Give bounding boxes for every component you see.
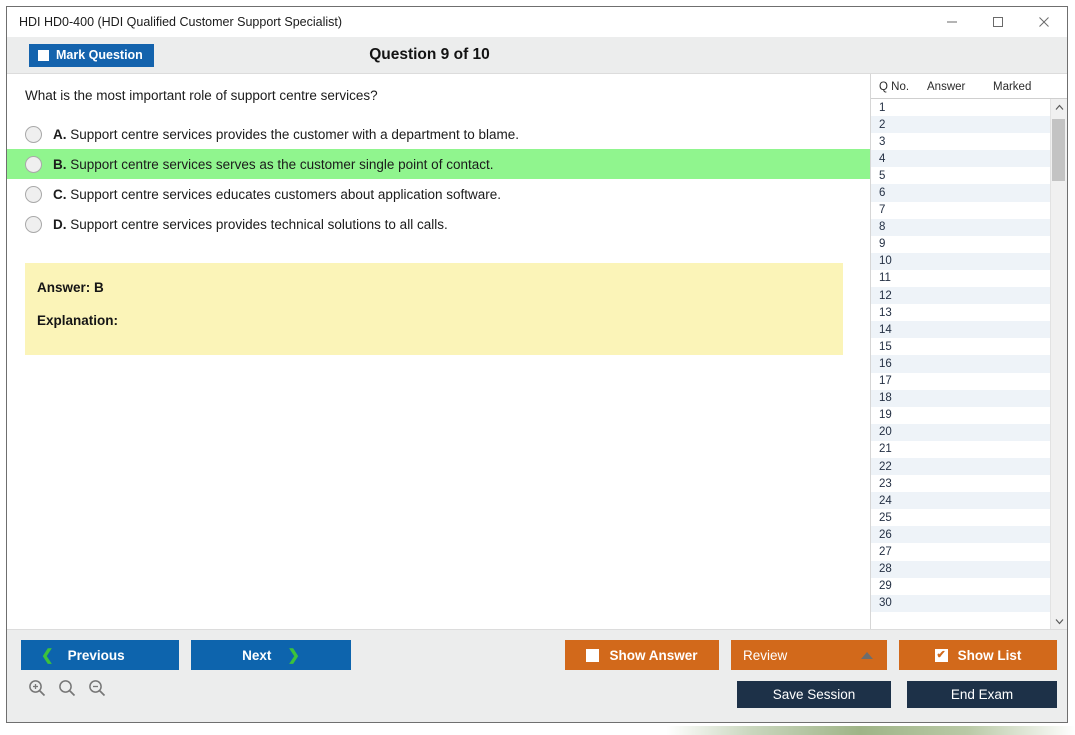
- row-question-number: 4: [871, 153, 926, 165]
- question-list-body: 1234567891011121314151617181920212223242…: [871, 99, 1067, 629]
- question-list-row[interactable]: 23: [871, 475, 1050, 492]
- question-list-row[interactable]: 14: [871, 321, 1050, 338]
- content-area: What is the most important role of suppo…: [7, 74, 1067, 629]
- option-body: Support centre services educates custome…: [70, 187, 501, 202]
- show-answer-label: Show Answer: [609, 648, 697, 663]
- show-list-button[interactable]: ✔ Show List: [899, 640, 1057, 670]
- scroll-up-arrow-icon[interactable]: [1051, 99, 1067, 115]
- row-question-number: 8: [871, 221, 926, 233]
- row-question-number: 3: [871, 136, 926, 148]
- row-question-number: 15: [871, 341, 926, 353]
- answer-label: Answer: B: [37, 280, 843, 295]
- next-label: Next: [242, 648, 271, 663]
- end-exam-button[interactable]: End Exam: [907, 681, 1057, 708]
- option-radio-icon[interactable]: [25, 216, 42, 233]
- row-question-number: 23: [871, 478, 926, 490]
- row-question-number: 11: [871, 272, 926, 284]
- question-list-row[interactable]: 19: [871, 407, 1050, 424]
- option-letter: B.: [53, 157, 67, 172]
- row-question-number: 17: [871, 375, 926, 387]
- question-list-row[interactable]: 17: [871, 373, 1050, 390]
- option-letter: C.: [53, 187, 67, 202]
- option-text: C. Support centre services educates cust…: [53, 187, 501, 202]
- question-list-row[interactable]: 7: [871, 202, 1050, 219]
- header-bar: Mark Question Question 9 of 10: [7, 37, 1067, 74]
- chevron-left-icon: ❮: [41, 648, 54, 663]
- question-list-row[interactable]: 27: [871, 543, 1050, 560]
- scroll-down-arrow-icon[interactable]: [1051, 613, 1067, 629]
- mark-question-checkbox-icon: [38, 50, 49, 61]
- option-radio-icon[interactable]: [25, 156, 42, 173]
- option-text: A. Support centre services provides the …: [53, 127, 519, 142]
- mark-question-label: Mark Question: [56, 48, 143, 62]
- question-list-row[interactable]: 18: [871, 390, 1050, 407]
- option-row[interactable]: C. Support centre services educates cust…: [7, 179, 870, 209]
- review-label: Review: [743, 648, 787, 663]
- end-exam-label: End Exam: [951, 687, 1013, 702]
- row-question-number: 26: [871, 529, 926, 541]
- row-question-number: 20: [871, 426, 926, 438]
- question-list-row[interactable]: 2: [871, 116, 1050, 133]
- question-list-row[interactable]: 20: [871, 424, 1050, 441]
- maximize-button[interactable]: [975, 7, 1021, 37]
- next-button[interactable]: Next ❯: [191, 640, 351, 670]
- option-radio-icon[interactable]: [25, 186, 42, 203]
- row-question-number: 10: [871, 255, 926, 267]
- question-list-row[interactable]: 15: [871, 338, 1050, 355]
- previous-button[interactable]: ❮ Previous: [21, 640, 179, 670]
- row-question-number: 27: [871, 546, 926, 558]
- row-question-number: 14: [871, 324, 926, 336]
- question-list-row[interactable]: 26: [871, 526, 1050, 543]
- row-question-number: 1: [871, 102, 926, 114]
- row-question-number: 16: [871, 358, 926, 370]
- option-body: Support centre services serves as the cu…: [70, 157, 493, 172]
- option-row[interactable]: D. Support centre services provides tech…: [7, 209, 870, 239]
- row-question-number: 5: [871, 170, 926, 182]
- question-list-row[interactable]: 8: [871, 219, 1050, 236]
- option-text: D. Support centre services provides tech…: [53, 217, 448, 232]
- row-question-number: 12: [871, 290, 926, 302]
- column-header-marked: Marked: [993, 81, 1055, 93]
- option-letter: A.: [53, 127, 67, 142]
- footer-toolbar: ❮ Previous Next ❯ Show Answer Review ✔ S…: [7, 629, 1067, 722]
- row-question-number: 28: [871, 563, 926, 575]
- row-question-number: 6: [871, 187, 926, 199]
- question-list-row[interactable]: 21: [871, 441, 1050, 458]
- question-list-row[interactable]: 25: [871, 509, 1050, 526]
- question-list-row[interactable]: 11: [871, 270, 1050, 287]
- option-body: Support centre services provides the cus…: [70, 127, 519, 142]
- question-list-row[interactable]: 12: [871, 287, 1050, 304]
- question-list-row[interactable]: 6: [871, 184, 1050, 201]
- column-header-qno: Q No.: [871, 81, 927, 93]
- column-header-answer: Answer: [927, 81, 993, 93]
- save-session-label: Save Session: [773, 687, 856, 702]
- close-button[interactable]: [1021, 7, 1067, 37]
- question-pane: What is the most important role of suppo…: [7, 74, 870, 629]
- exam-window: HDI HD0-400 (HDI Qualified Customer Supp…: [6, 6, 1068, 723]
- option-body: Support centre services provides technic…: [70, 217, 447, 232]
- zoom-reset-icon[interactable]: [57, 678, 77, 698]
- row-question-number: 19: [871, 409, 926, 421]
- options-list: A. Support centre services provides the …: [7, 119, 870, 239]
- question-list-pane: Q No. Answer Marked 12345678910111213141…: [870, 74, 1067, 629]
- save-session-button[interactable]: Save Session: [737, 681, 891, 708]
- show-list-label: Show List: [958, 648, 1022, 663]
- zoom-out-icon[interactable]: [87, 678, 107, 698]
- answer-explanation-panel: Answer: B Explanation:: [25, 263, 843, 355]
- zoom-toolbar: [27, 678, 107, 698]
- caret-up-icon: [861, 652, 873, 659]
- question-list-row[interactable]: 10: [871, 253, 1050, 270]
- question-list-row[interactable]: 1: [871, 99, 1050, 116]
- row-question-number: 13: [871, 307, 926, 319]
- option-row[interactable]: A. Support centre services provides the …: [7, 119, 870, 149]
- question-list-header: Q No. Answer Marked: [871, 74, 1067, 99]
- question-list-row[interactable]: 4: [871, 150, 1050, 167]
- question-list-row[interactable]: 9: [871, 236, 1050, 253]
- question-list-row[interactable]: 28: [871, 561, 1050, 578]
- scrollbar-track[interactable]: [1051, 115, 1067, 613]
- option-text: B. Support centre services serves as the…: [53, 157, 493, 172]
- title-bar: HDI HD0-400 (HDI Qualified Customer Supp…: [7, 7, 1067, 37]
- zoom-in-icon[interactable]: [27, 678, 47, 698]
- review-dropdown-button[interactable]: Review: [731, 640, 887, 670]
- row-question-number: 29: [871, 580, 926, 592]
- row-question-number: 9: [871, 238, 926, 250]
- window-controls: [929, 7, 1067, 37]
- row-question-number: 18: [871, 392, 926, 404]
- row-question-number: 21: [871, 443, 926, 455]
- question-counter-heading: Question 9 of 10: [7, 46, 1067, 64]
- question-list-row[interactable]: 13: [871, 304, 1050, 321]
- question-text: What is the most important role of suppo…: [7, 74, 870, 103]
- window-title: HDI HD0-400 (HDI Qualified Customer Supp…: [7, 15, 342, 29]
- question-list-row[interactable]: 30: [871, 595, 1050, 612]
- question-list-row[interactable]: 24: [871, 492, 1050, 509]
- question-list-row[interactable]: 29: [871, 578, 1050, 595]
- option-letter: D.: [53, 217, 67, 232]
- row-question-number: 25: [871, 512, 926, 524]
- screen: HDI HD0-400 (HDI Qualified Customer Supp…: [0, 0, 1075, 735]
- minimize-button[interactable]: [929, 7, 975, 37]
- show-list-checkbox-icon: ✔: [935, 649, 948, 662]
- chevron-right-icon: ❯: [287, 648, 300, 663]
- row-question-number: 24: [871, 495, 926, 507]
- scrollbar-thumb[interactable]: [1052, 119, 1065, 181]
- show-answer-checkbox-icon: [586, 649, 599, 662]
- question-rows: 1234567891011121314151617181920212223242…: [871, 99, 1050, 629]
- question-list-row[interactable]: 3: [871, 133, 1050, 150]
- row-question-number: 30: [871, 597, 926, 609]
- question-list-row[interactable]: 22: [871, 458, 1050, 475]
- previous-label: Previous: [68, 648, 125, 663]
- question-list-row[interactable]: 16: [871, 355, 1050, 372]
- explanation-label: Explanation:: [37, 313, 843, 328]
- row-question-number: 2: [871, 119, 926, 131]
- question-list-row[interactable]: 5: [871, 167, 1050, 184]
- question-list-scrollbar[interactable]: [1050, 99, 1067, 629]
- row-question-number: 22: [871, 461, 926, 473]
- show-answer-button[interactable]: Show Answer: [565, 640, 719, 670]
- desktop-background-strip: [0, 726, 1075, 735]
- option-row[interactable]: B. Support centre services serves as the…: [7, 149, 870, 179]
- row-question-number: 7: [871, 204, 926, 216]
- mark-question-button[interactable]: Mark Question: [29, 44, 154, 67]
- option-radio-icon[interactable]: [25, 126, 42, 143]
